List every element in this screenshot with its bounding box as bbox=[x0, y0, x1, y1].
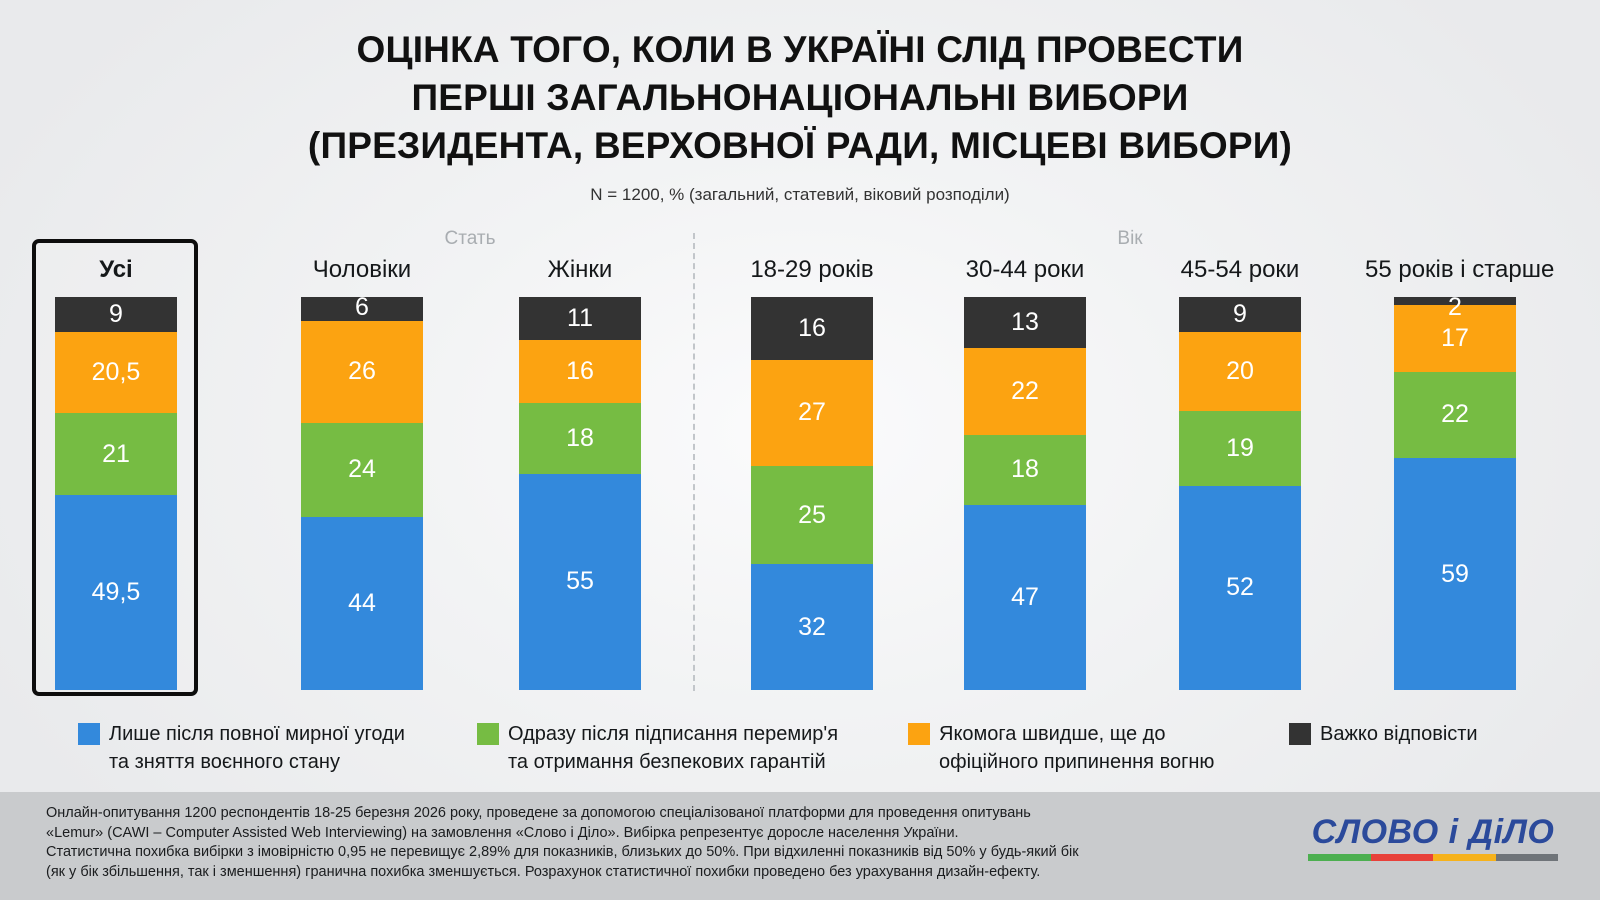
legend-label: Якомога швидше, ще до офіційного припине… bbox=[939, 720, 1214, 776]
legend-label: Лише після повної мирної угоди та зняття… bbox=[109, 720, 405, 776]
bar-segment[interactable]: 55 bbox=[519, 474, 641, 690]
bar-segment[interactable]: 20,5 bbox=[55, 332, 177, 413]
infographic-canvas: ОЦІНКА ТОГО, КОЛИ В УКРАЇНІ СЛІД ПРОВЕСТ… bbox=[0, 0, 1600, 900]
segment-value-label: 59 bbox=[1441, 562, 1469, 587]
bar-segment[interactable]: 2 bbox=[1394, 297, 1516, 305]
column-header: 55 років і старше bbox=[1365, 256, 1545, 284]
bar-segment[interactable]: 49,5 bbox=[55, 495, 177, 690]
segment-value-label: 9 bbox=[1233, 302, 1247, 327]
legend-swatch bbox=[1289, 723, 1311, 745]
segment-value-label: 11 bbox=[567, 306, 593, 331]
legend-swatch bbox=[477, 723, 499, 745]
segment-value-label: 24 bbox=[348, 457, 376, 482]
footer-bar: Онлайн-опитування 1200 респондентів 18-2… bbox=[0, 792, 1600, 900]
brand-logo[interactable]: СЛОВО і ДіЛО bbox=[1308, 814, 1558, 861]
segment-value-label: 13 bbox=[1011, 310, 1039, 335]
legend-swatch bbox=[908, 723, 930, 745]
column-header: 18-29 років bbox=[722, 256, 902, 284]
bar-segment[interactable]: 52 bbox=[1179, 486, 1301, 690]
group-label-gender: Стать bbox=[380, 228, 560, 250]
column-header: 45-54 роки bbox=[1150, 256, 1330, 284]
bar-column: 55 років і старше2172259 bbox=[1365, 256, 1545, 690]
stacked-bar: 6262444 bbox=[301, 297, 423, 690]
segment-value-label: 2 bbox=[1394, 295, 1516, 320]
segment-value-label: 18 bbox=[566, 426, 594, 451]
bar-segment[interactable]: 6 bbox=[301, 297, 423, 321]
page-title: ОЦІНКА ТОГО, КОЛИ В УКРАЇНІ СЛІД ПРОВЕСТ… bbox=[0, 26, 1600, 170]
bar-column: Жінки11161855 bbox=[490, 256, 670, 690]
methodology-note: Онлайн-опитування 1200 респондентів 18-2… bbox=[46, 804, 1276, 882]
segment-value-label: 21 bbox=[102, 442, 130, 467]
bar-segment[interactable]: 18 bbox=[964, 435, 1086, 506]
segment-value-label: 19 bbox=[1226, 436, 1254, 461]
segment-value-label: 16 bbox=[798, 316, 826, 341]
column-header: Жінки bbox=[490, 256, 670, 284]
logo-bar-green bbox=[1308, 854, 1371, 861]
column-header: Усі bbox=[26, 256, 206, 284]
stacked-bar: 2172259 bbox=[1394, 297, 1516, 690]
bar-column: 30-44 роки13221847 bbox=[935, 256, 1115, 690]
logo-bar-yellow bbox=[1433, 854, 1496, 861]
legend-item[interactable]: Одразу після підписання перемир'я та отр… bbox=[477, 720, 838, 776]
title-line-3: (ПРЕЗИДЕНТА, ВЕРХОВНОЇ РАДИ, МІСЦЕВІ ВИБ… bbox=[0, 122, 1600, 170]
bar-segment[interactable]: 9 bbox=[55, 297, 177, 332]
title-line-2: ПЕРШІ ЗАГАЛЬНОНАЦІОНАЛЬНІ ВИБОРИ bbox=[0, 74, 1600, 122]
bar-segment[interactable]: 44 bbox=[301, 517, 423, 690]
logo-color-bar bbox=[1308, 854, 1558, 861]
chart-subtitle: N = 1200, % (загальний, статевий, вікови… bbox=[0, 185, 1600, 205]
segment-value-label: 27 bbox=[798, 400, 826, 425]
bar-segment[interactable]: 47 bbox=[964, 505, 1086, 690]
segment-value-label: 52 bbox=[1226, 575, 1254, 600]
segment-value-label: 47 bbox=[1011, 585, 1039, 610]
bar-column: 45-54 роки9201952 bbox=[1150, 256, 1330, 690]
bar-segment[interactable]: 22 bbox=[964, 348, 1086, 434]
segment-value-label: 18 bbox=[1011, 457, 1039, 482]
bar-segment[interactable]: 27 bbox=[751, 360, 873, 466]
segment-value-label: 55 bbox=[566, 569, 594, 594]
column-header: Чоловіки bbox=[272, 256, 452, 284]
stacked-bar: 13221847 bbox=[964, 297, 1086, 690]
title-line-1: ОЦІНКА ТОГО, КОЛИ В УКРАЇНІ СЛІД ПРОВЕСТ… bbox=[0, 26, 1600, 74]
bar-segment[interactable]: 32 bbox=[751, 564, 873, 690]
legend-item[interactable]: Важко відповісти bbox=[1289, 720, 1478, 748]
legend-item[interactable]: Лише після повної мирної угоди та зняття… bbox=[78, 720, 405, 776]
logo-bar-gray bbox=[1496, 854, 1559, 861]
bar-segment[interactable]: 18 bbox=[519, 403, 641, 474]
segment-value-label: 26 bbox=[348, 359, 376, 384]
logo-bar-red bbox=[1371, 854, 1434, 861]
chart-legend: Лише після повної мирної угоди та зняття… bbox=[0, 720, 1600, 786]
stacked-bar: 11161855 bbox=[519, 297, 641, 690]
bar-segment[interactable]: 26 bbox=[301, 321, 423, 423]
column-header: 30-44 роки bbox=[935, 256, 1115, 284]
logo-wordmark: СЛОВО і ДіЛО bbox=[1308, 814, 1558, 850]
bar-segment[interactable]: 11 bbox=[519, 297, 641, 340]
legend-label: Одразу після підписання перемир'я та отр… bbox=[508, 720, 838, 776]
bar-segment[interactable]: 16 bbox=[751, 297, 873, 360]
bar-column: Усі920,52149,5 bbox=[26, 256, 206, 690]
group-divider-dashed bbox=[693, 233, 695, 691]
legend-label: Важко відповісти bbox=[1320, 720, 1478, 748]
bar-column: Чоловіки6262444 bbox=[272, 256, 452, 690]
segment-value-label: 44 bbox=[348, 591, 376, 616]
bar-segment[interactable]: 24 bbox=[301, 423, 423, 517]
bar-segment[interactable]: 19 bbox=[1179, 411, 1301, 486]
group-label-age: Вік bbox=[1040, 228, 1220, 250]
bar-segment[interactable]: 21 bbox=[55, 413, 177, 496]
segment-value-label: 32 bbox=[798, 615, 826, 640]
legend-swatch bbox=[78, 723, 100, 745]
legend-item[interactable]: Якомога швидше, ще до офіційного припине… bbox=[908, 720, 1214, 776]
segment-value-label: 20,5 bbox=[92, 360, 141, 385]
segment-value-label: 22 bbox=[1011, 379, 1039, 404]
stacked-bar: 16272532 bbox=[751, 297, 873, 690]
segment-value-label: 6 bbox=[301, 295, 423, 320]
bar-segment[interactable]: 20 bbox=[1179, 332, 1301, 411]
segment-value-label: 25 bbox=[798, 503, 826, 528]
segment-value-label: 16 bbox=[566, 359, 594, 384]
bar-segment[interactable]: 22 bbox=[1394, 372, 1516, 458]
bar-segment[interactable]: 9 bbox=[1179, 297, 1301, 332]
segment-value-label: 17 bbox=[1441, 326, 1469, 351]
stacked-bar: 9201952 bbox=[1179, 297, 1301, 690]
segment-value-label: 20 bbox=[1226, 359, 1254, 384]
stacked-bar: 920,52149,5 bbox=[55, 297, 177, 690]
bar-segment[interactable]: 59 bbox=[1394, 458, 1516, 690]
bar-column: 18-29 років16272532 bbox=[722, 256, 902, 690]
segment-value-label: 49,5 bbox=[92, 580, 141, 605]
segment-value-label: 22 bbox=[1441, 402, 1469, 427]
bar-segment[interactable]: 13 bbox=[964, 297, 1086, 348]
bar-segment[interactable]: 25 bbox=[751, 466, 873, 564]
segment-value-label: 9 bbox=[109, 302, 123, 327]
bar-segment[interactable]: 16 bbox=[519, 340, 641, 403]
